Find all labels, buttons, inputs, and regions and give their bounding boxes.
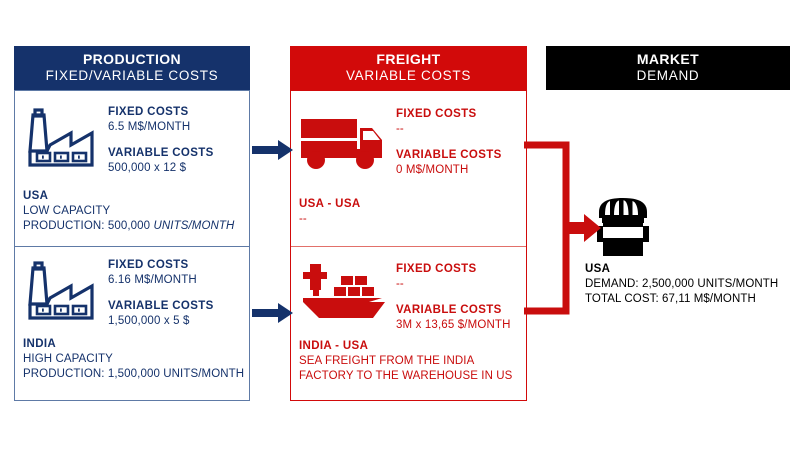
- market-header-title: MARKET: [637, 51, 699, 68]
- market-total-cost: TOTAL COST: 67,11 M$/MONTH: [585, 292, 790, 307]
- production-india-country: INDIA: [23, 337, 245, 352]
- freight-usa-variable-costs: VARIABLE COSTS 0 M$/MONTH: [396, 148, 502, 178]
- production-header-subtitle: FIXED/VARIABLE COSTS: [46, 68, 219, 84]
- production-india-output: PRODUCTION: 1,500,000 UNITS/MONTH: [23, 367, 245, 382]
- freight-india-description-line1: SEA FREIGHT FROM THE INDIA: [299, 354, 522, 369]
- production-usa-variable-costs-label: VARIABLE COSTS: [108, 146, 214, 160]
- production-india-fixed-costs-value: 6.16 M$/MONTH: [108, 273, 197, 288]
- production-india-output-prefix: PRODUCTION: 1,500,000 UNITS/MONTH: [23, 368, 244, 380]
- production-usa-variable-costs-value: 500,000 x 12 $: [108, 161, 214, 176]
- production-header-title: PRODUCTION: [83, 51, 181, 68]
- freight-usa-fixed-costs: FIXED COSTS --: [396, 107, 477, 137]
- freight-cell-usa-usa: FIXED COSTS -- VARIABLE COSTS 0 M$/MONTH…: [291, 91, 526, 246]
- production-india-summary: INDIA HIGH CAPACITY PRODUCTION: 1,500,00…: [23, 337, 245, 382]
- arrow-right-icon: [252, 302, 294, 329]
- freight-india-fixed-costs: FIXED COSTS --: [396, 262, 477, 292]
- cargo-ship-icon: [297, 262, 391, 331]
- market-header-subtitle: DEMAND: [637, 68, 700, 84]
- market-header: MARKET DEMAND: [546, 46, 790, 90]
- freight-usa-fixed-costs-label: FIXED COSTS: [396, 107, 477, 121]
- market-summary: USA DEMAND: 2,500,000 UNITS/MONTH TOTAL …: [585, 262, 790, 307]
- factory-icon: [25, 107, 97, 174]
- production-india-variable-costs: VARIABLE COSTS 1,500,000 x 5 $: [108, 299, 214, 329]
- freight-india-fixed-costs-value: --: [396, 277, 477, 292]
- production-usa-capacity: LOW CAPACITY: [23, 204, 245, 219]
- freight-header-subtitle: VARIABLE COSTS: [346, 68, 471, 84]
- production-usa-summary: USA LOW CAPACITY PRODUCTION: 500,000 UNI…: [23, 189, 245, 234]
- freight-india-description-line2: FACTORY TO THE WAREHOUSE IN US: [299, 369, 522, 384]
- bracket-arrow-right-icon: [522, 140, 602, 325]
- freight-panel: FIXED COSTS -- VARIABLE COSTS 0 M$/MONTH…: [290, 90, 527, 401]
- production-panel: FIXED COSTS 6.5 M$/MONTH VARIABLE COSTS …: [14, 90, 250, 401]
- freight-usa-summary: USA - USA --: [299, 197, 522, 227]
- freight-usa-variable-costs-value: 0 M$/MONTH: [396, 163, 502, 178]
- freight-header: FREIGHT VARIABLE COSTS: [290, 46, 527, 90]
- diagram-canvas: PRODUCTION FIXED/VARIABLE COSTS FREIGHT …: [0, 0, 800, 450]
- arrow-right-icon: [252, 139, 294, 166]
- freight-india-fixed-costs-label: FIXED COSTS: [396, 262, 477, 276]
- production-usa-output-units: UNITS/MONTH: [153, 220, 234, 232]
- freight-usa-description-line1: --: [299, 212, 522, 227]
- freight-india-variable-costs-label: VARIABLE COSTS: [396, 303, 511, 317]
- freight-header-title: FREIGHT: [376, 51, 440, 68]
- freight-india-variable-costs-value: 3M x 13,65 $/MONTH: [396, 318, 511, 333]
- production-cell-india: FIXED COSTS 6.16 M$/MONTH VARIABLE COSTS…: [15, 246, 249, 399]
- freight-usa-variable-costs-label: VARIABLE COSTS: [396, 148, 502, 162]
- production-india-fixed-costs: FIXED COSTS 6.16 M$/MONTH: [108, 258, 197, 288]
- production-india-capacity: HIGH CAPACITY: [23, 352, 245, 367]
- freight-india-summary: INDIA - USA SEA FREIGHT FROM THE INDIA F…: [299, 339, 522, 384]
- production-india-variable-costs-label: VARIABLE COSTS: [108, 299, 214, 313]
- freight-usa-route: USA - USA: [299, 197, 522, 212]
- production-india-variable-costs-value: 1,500,000 x 5 $: [108, 314, 214, 329]
- production-header: PRODUCTION FIXED/VARIABLE COSTS: [14, 46, 250, 90]
- truck-icon: [299, 115, 387, 176]
- production-usa-country: USA: [23, 189, 245, 204]
- production-cell-usa: FIXED COSTS 6.5 M$/MONTH VARIABLE COSTS …: [15, 91, 249, 246]
- freight-india-route: INDIA - USA: [299, 339, 522, 354]
- freight-cell-india-usa: FIXED COSTS -- VARIABLE COSTS 3M x 13,65…: [291, 246, 526, 399]
- market-country: USA: [585, 262, 790, 277]
- production-usa-output: PRODUCTION: 500,000 UNITS/MONTH: [23, 219, 245, 234]
- production-india-fixed-costs-label: FIXED COSTS: [108, 258, 197, 272]
- factory-icon: [25, 260, 97, 327]
- production-usa-fixed-costs: FIXED COSTS 6.5 M$/MONTH: [108, 105, 190, 135]
- production-usa-fixed-costs-value: 6.5 M$/MONTH: [108, 120, 190, 135]
- production-usa-variable-costs: VARIABLE COSTS 500,000 x 12 $: [108, 146, 214, 176]
- market-demand: DEMAND: 2,500,000 UNITS/MONTH: [585, 277, 790, 292]
- freight-india-variable-costs: VARIABLE COSTS 3M x 13,65 $/MONTH: [396, 303, 511, 333]
- freight-usa-fixed-costs-value: --: [396, 122, 477, 137]
- production-usa-output-prefix: PRODUCTION: 500,000: [23, 220, 153, 232]
- production-usa-fixed-costs-label: FIXED COSTS: [108, 105, 190, 119]
